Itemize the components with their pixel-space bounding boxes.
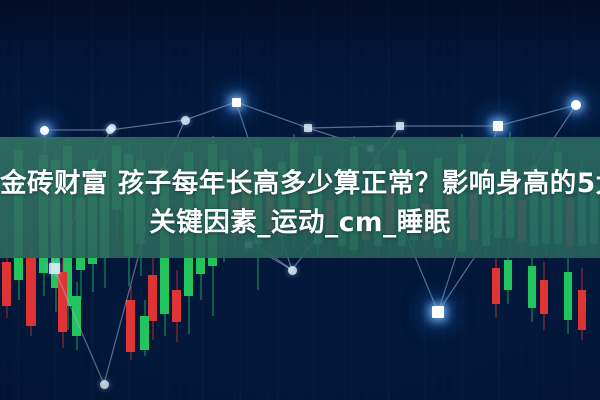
thumbnail-image: 金砖财富 孩子每年长高多少算正常？影响身高的5大 关键因素_运动_cm_睡眠: [0, 0, 600, 400]
vignette-overlay: [0, 0, 600, 400]
